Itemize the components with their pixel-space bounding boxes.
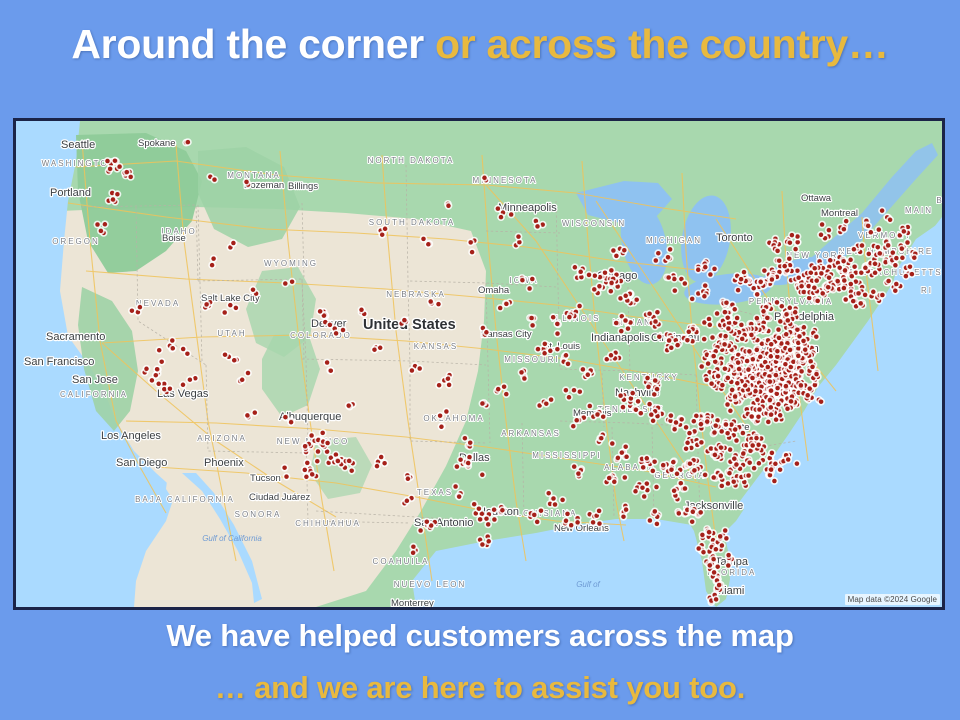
customer-marker[interactable]: [114, 190, 122, 198]
customer-marker[interactable]: [731, 426, 739, 434]
customer-marker[interactable]: [703, 376, 711, 384]
customer-marker[interactable]: [666, 246, 674, 254]
customer-marker[interactable]: [686, 429, 694, 437]
customer-marker[interactable]: [725, 325, 733, 333]
customer-marker[interactable]: [865, 250, 873, 258]
customer-marker[interactable]: [494, 205, 502, 213]
customer-marker[interactable]: [323, 359, 331, 367]
customer-marker[interactable]: [646, 517, 654, 525]
customer-marker[interactable]: [871, 269, 879, 277]
customer-marker[interactable]: [308, 432, 316, 440]
customer-marker[interactable]: [455, 493, 463, 501]
customer-marker[interactable]: [800, 337, 808, 345]
customer-marker[interactable]: [874, 243, 882, 251]
customer-marker[interactable]: [817, 398, 825, 406]
customer-marker[interactable]: [319, 429, 327, 437]
customer-marker[interactable]: [705, 528, 713, 536]
customer-marker[interactable]: [621, 474, 629, 482]
customer-marker[interactable]: [622, 292, 630, 300]
customer-marker[interactable]: [851, 263, 859, 271]
customer-marker[interactable]: [710, 569, 718, 577]
customer-marker[interactable]: [733, 379, 741, 387]
customer-marker[interactable]: [610, 247, 618, 255]
customer-marker[interactable]: [785, 255, 793, 263]
customer-marker[interactable]: [686, 460, 694, 468]
customer-marker[interactable]: [533, 518, 541, 526]
customer-marker[interactable]: [733, 314, 741, 322]
customer-marker[interactable]: [745, 366, 753, 374]
customer-marker[interactable]: [878, 207, 886, 215]
customer-marker[interactable]: [423, 518, 431, 526]
customer-marker[interactable]: [711, 429, 719, 437]
customer-marker[interactable]: [700, 548, 708, 556]
customer-marker[interactable]: [479, 400, 487, 408]
customer-marker[interactable]: [847, 256, 855, 264]
customer-marker[interactable]: [634, 398, 642, 406]
customer-marker[interactable]: [840, 225, 848, 233]
customer-marker[interactable]: [541, 349, 549, 357]
customer-marker[interactable]: [670, 487, 678, 495]
customer-marker[interactable]: [795, 274, 803, 282]
customer-marker[interactable]: [787, 398, 795, 406]
customer-marker[interactable]: [709, 334, 717, 342]
customer-marker[interactable]: [694, 266, 702, 274]
customer-marker[interactable]: [776, 318, 784, 326]
customer-marker[interactable]: [534, 345, 542, 353]
customer-marker[interactable]: [622, 443, 630, 451]
customer-marker[interactable]: [811, 264, 819, 272]
customer-marker[interactable]: [704, 360, 712, 368]
customer-marker[interactable]: [746, 459, 754, 467]
customer-marker[interactable]: [794, 352, 802, 360]
customer-marker[interactable]: [417, 527, 425, 535]
customer-marker[interactable]: [717, 472, 725, 480]
customer-marker[interactable]: [782, 382, 790, 390]
customer-marker[interactable]: [211, 176, 219, 184]
customer-marker[interactable]: [825, 226, 833, 234]
customer-marker[interactable]: [503, 300, 511, 308]
customer-marker[interactable]: [101, 220, 109, 228]
customer-marker[interactable]: [718, 542, 726, 550]
customer-marker[interactable]: [738, 335, 746, 343]
customer-marker[interactable]: [768, 276, 776, 284]
customer-marker[interactable]: [570, 386, 578, 394]
customer-marker[interactable]: [734, 286, 742, 294]
customer-marker[interactable]: [850, 245, 858, 253]
customer-marker[interactable]: [783, 311, 791, 319]
customer-marker[interactable]: [313, 457, 321, 465]
customer-marker[interactable]: [409, 549, 417, 557]
customer-marker[interactable]: [123, 168, 131, 176]
customer-marker[interactable]: [826, 256, 834, 264]
customer-marker[interactable]: [334, 457, 342, 465]
customer-marker[interactable]: [490, 506, 498, 514]
customer-marker[interactable]: [230, 239, 238, 247]
customer-marker[interactable]: [792, 245, 800, 253]
customer-marker[interactable]: [739, 450, 747, 458]
customer-marker[interactable]: [733, 461, 741, 469]
customer-marker[interactable]: [812, 333, 820, 341]
customer-marker[interactable]: [681, 280, 689, 288]
customer-marker[interactable]: [721, 341, 729, 349]
customer-marker[interactable]: [622, 317, 630, 325]
customer-marker[interactable]: [575, 470, 583, 478]
customer-marker[interactable]: [886, 216, 894, 224]
customer-marker[interactable]: [612, 319, 620, 327]
customer-marker[interactable]: [445, 202, 453, 210]
customer-marker[interactable]: [763, 314, 771, 322]
customer-marker[interactable]: [545, 489, 553, 497]
customer-marker[interactable]: [749, 442, 757, 450]
customer-marker[interactable]: [243, 178, 251, 186]
customer-marker[interactable]: [767, 411, 775, 419]
customer-marker[interactable]: [345, 402, 353, 410]
customer-marker[interactable]: [861, 291, 869, 299]
customer-marker[interactable]: [715, 581, 723, 589]
customer-marker[interactable]: [667, 344, 675, 352]
customer-marker[interactable]: [158, 358, 166, 366]
customer-marker[interactable]: [585, 271, 593, 279]
customer-marker[interactable]: [116, 163, 124, 171]
customer-marker[interactable]: [739, 429, 747, 437]
customer-marker[interactable]: [724, 429, 732, 437]
customer-marker[interactable]: [179, 381, 187, 389]
customer-marker[interactable]: [700, 335, 708, 343]
customer-marker[interactable]: [669, 458, 677, 466]
customer-marker[interactable]: [584, 371, 592, 379]
customer-marker[interactable]: [605, 474, 613, 482]
customer-marker[interactable]: [599, 413, 607, 421]
customer-marker[interactable]: [478, 471, 486, 479]
customer-marker[interactable]: [688, 518, 696, 526]
customer-marker[interactable]: [601, 269, 609, 277]
customer-marker[interactable]: [842, 217, 850, 225]
customer-marker[interactable]: [649, 467, 657, 475]
customer-marker[interactable]: [639, 484, 647, 492]
customer-marker[interactable]: [339, 326, 347, 334]
customer-marker[interactable]: [652, 257, 660, 265]
customer-marker[interactable]: [570, 463, 578, 471]
customer-marker[interactable]: [722, 332, 730, 340]
customer-marker[interactable]: [768, 449, 776, 457]
customer-marker[interactable]: [551, 501, 559, 509]
customer-marker[interactable]: [457, 456, 465, 464]
customer-marker[interactable]: [755, 413, 763, 421]
customer-marker[interactable]: [735, 365, 743, 373]
customer-marker[interactable]: [684, 336, 692, 344]
customer-marker[interactable]: [690, 417, 698, 425]
customer-marker[interactable]: [554, 330, 562, 338]
customer-marker[interactable]: [645, 383, 653, 391]
customer-marker[interactable]: [528, 275, 536, 283]
customer-marker[interactable]: [484, 521, 492, 529]
customer-marker[interactable]: [481, 174, 489, 182]
customer-marker[interactable]: [607, 287, 615, 295]
customer-marker[interactable]: [775, 334, 783, 342]
customer-marker[interactable]: [788, 231, 796, 239]
customer-marker[interactable]: [842, 296, 850, 304]
customer-marker[interactable]: [793, 460, 801, 468]
customer-marker[interactable]: [753, 434, 761, 442]
customer-marker[interactable]: [651, 508, 659, 516]
customer-marker[interactable]: [153, 365, 161, 373]
customer-marker[interactable]: [712, 422, 720, 430]
customer-marker[interactable]: [723, 535, 731, 543]
customer-marker[interactable]: [378, 231, 386, 239]
customer-marker[interactable]: [817, 231, 825, 239]
customer-marker[interactable]: [871, 260, 879, 268]
customer-marker[interactable]: [900, 228, 908, 236]
customer-marker[interactable]: [730, 478, 738, 486]
customer-marker[interactable]: [208, 261, 216, 269]
customer-marker[interactable]: [711, 451, 719, 459]
customer-marker[interactable]: [301, 466, 309, 474]
customer-marker[interactable]: [848, 272, 856, 280]
customer-marker[interactable]: [774, 347, 782, 355]
customer-marker[interactable]: [314, 448, 322, 456]
customer-marker[interactable]: [435, 381, 443, 389]
customer-marker[interactable]: [653, 385, 661, 393]
customer-marker[interactable]: [589, 519, 597, 527]
customer-marker[interactable]: [644, 374, 652, 382]
customer-marker[interactable]: [884, 242, 892, 250]
customer-marker[interactable]: [855, 290, 863, 298]
customer-marker[interactable]: [773, 299, 781, 307]
customer-marker[interactable]: [288, 278, 296, 286]
customer-marker[interactable]: [892, 261, 900, 269]
customer-marker[interactable]: [665, 337, 673, 345]
customer-marker[interactable]: [719, 381, 727, 389]
customer-marker[interactable]: [562, 351, 570, 359]
customer-marker[interactable]: [724, 401, 732, 409]
customer-marker[interactable]: [597, 434, 605, 442]
customer-marker[interactable]: [814, 297, 822, 305]
customer-marker[interactable]: [438, 423, 446, 431]
customer-marker[interactable]: [607, 351, 615, 359]
customer-marker[interactable]: [566, 313, 574, 321]
customer-marker[interactable]: [691, 467, 699, 475]
customer-marker[interactable]: [639, 464, 647, 472]
customer-marker[interactable]: [772, 371, 780, 379]
customer-marker[interactable]: [403, 497, 411, 505]
customer-marker[interactable]: [373, 462, 381, 470]
customer-marker[interactable]: [775, 400, 783, 408]
customer-marker[interactable]: [565, 393, 573, 401]
customer-marker[interactable]: [332, 330, 340, 338]
customer-marker[interactable]: [401, 316, 409, 324]
customer-marker[interactable]: [786, 346, 794, 354]
customer-marker[interactable]: [701, 263, 709, 271]
customer-marker[interactable]: [155, 346, 163, 354]
customer-marker[interactable]: [573, 416, 581, 424]
customer-marker[interactable]: [673, 470, 681, 478]
customer-marker[interactable]: [737, 275, 745, 283]
customer-marker[interactable]: [725, 551, 733, 559]
customer-marker[interactable]: [699, 531, 707, 539]
customer-marker[interactable]: [806, 385, 814, 393]
customer-marker[interactable]: [559, 496, 567, 504]
customer-marker[interactable]: [283, 473, 291, 481]
customer-marker[interactable]: [774, 247, 782, 255]
customer-marker[interactable]: [771, 477, 779, 485]
customer-marker[interactable]: [892, 280, 900, 288]
customer-marker[interactable]: [798, 282, 806, 290]
customer-marker[interactable]: [757, 278, 765, 286]
customer-marker[interactable]: [655, 333, 663, 341]
customer-marker[interactable]: [435, 300, 443, 308]
customer-marker[interactable]: [479, 541, 487, 549]
customer-marker[interactable]: [891, 287, 899, 295]
customer-marker[interactable]: [809, 363, 817, 371]
customer-marker[interactable]: [653, 520, 661, 528]
customer-marker[interactable]: [810, 284, 818, 292]
customer-marker[interactable]: [249, 286, 257, 294]
customer-marker[interactable]: [776, 466, 784, 474]
customer-marker[interactable]: [836, 264, 844, 272]
customer-marker[interactable]: [753, 314, 761, 322]
customer-marker[interactable]: [743, 357, 751, 365]
customer-marker[interactable]: [564, 360, 572, 368]
customer-marker[interactable]: [564, 510, 572, 518]
customer-marker[interactable]: [186, 376, 194, 384]
customer-marker[interactable]: [740, 268, 748, 276]
customer-marker[interactable]: [624, 325, 632, 333]
customer-marker[interactable]: [723, 299, 731, 307]
customer-marker[interactable]: [537, 507, 545, 515]
customer-marker[interactable]: [345, 457, 353, 465]
customer-marker[interactable]: [671, 425, 679, 433]
customer-marker[interactable]: [244, 369, 252, 377]
customer-marker[interactable]: [667, 412, 675, 420]
customer-marker[interactable]: [436, 412, 444, 420]
customer-marker[interactable]: [619, 403, 627, 411]
customer-marker[interactable]: [665, 274, 673, 282]
customer-marker[interactable]: [767, 340, 775, 348]
customer-marker[interactable]: [554, 345, 562, 353]
customer-marker[interactable]: [497, 213, 505, 221]
customer-marker[interactable]: [908, 270, 916, 278]
map-canvas[interactable]: United States WASHINGTONOREGONIDAHOMONTA…: [16, 121, 942, 607]
customer-marker[interactable]: [404, 475, 412, 483]
customer-marker[interactable]: [776, 411, 784, 419]
customer-marker[interactable]: [623, 453, 631, 461]
customer-marker[interactable]: [232, 304, 240, 312]
customer-marker[interactable]: [633, 296, 641, 304]
customer-marker[interactable]: [754, 396, 762, 404]
customer-marker[interactable]: [166, 385, 174, 393]
customer-marker[interactable]: [748, 413, 756, 421]
customer-marker[interactable]: [221, 309, 229, 317]
customer-marker[interactable]: [526, 285, 534, 293]
customer-marker[interactable]: [210, 255, 218, 263]
customer-marker[interactable]: [682, 445, 690, 453]
customer-marker[interactable]: [766, 378, 774, 386]
customer-marker[interactable]: [617, 327, 625, 335]
customer-marker[interactable]: [534, 223, 542, 231]
customer-marker[interactable]: [681, 485, 689, 493]
customer-marker[interactable]: [528, 314, 536, 322]
customer-marker[interactable]: [376, 344, 384, 352]
customer-marker[interactable]: [416, 365, 424, 373]
customer-marker[interactable]: [840, 284, 848, 292]
customer-marker[interactable]: [461, 434, 469, 442]
customer-marker[interactable]: [857, 300, 865, 308]
customer-marker[interactable]: [889, 249, 897, 257]
customer-marker[interactable]: [221, 351, 229, 359]
customer-marker[interactable]: [847, 280, 855, 288]
customer-marker[interactable]: [519, 276, 527, 284]
customer-marker[interactable]: [128, 307, 136, 315]
customer-marker[interactable]: [104, 157, 112, 165]
customer-marker[interactable]: [710, 352, 718, 360]
customer-marker[interactable]: [688, 295, 696, 303]
customer-marker[interactable]: [326, 321, 334, 329]
customer-marker[interactable]: [724, 374, 732, 382]
customer-marker[interactable]: [281, 464, 289, 472]
customer-marker[interactable]: [753, 346, 761, 354]
customer-marker[interactable]: [791, 308, 799, 316]
customer-marker[interactable]: [595, 507, 603, 515]
customer-marker[interactable]: [549, 313, 557, 321]
customer-marker[interactable]: [203, 301, 211, 309]
customer-marker[interactable]: [577, 268, 585, 276]
customer-marker[interactable]: [576, 302, 584, 310]
customer-marker[interactable]: [632, 487, 640, 495]
customer-marker[interactable]: [906, 263, 914, 271]
customer-marker[interactable]: [781, 262, 789, 270]
customer-marker[interactable]: [136, 303, 144, 311]
customer-marker[interactable]: [685, 328, 693, 336]
customer-marker[interactable]: [864, 222, 872, 230]
customer-marker[interactable]: [804, 391, 812, 399]
customer-marker[interactable]: [767, 466, 775, 474]
customer-marker[interactable]: [452, 483, 460, 491]
customer-marker[interactable]: [746, 348, 754, 356]
customer-marker[interactable]: [251, 409, 259, 417]
customer-marker[interactable]: [427, 298, 435, 306]
customer-marker[interactable]: [629, 389, 637, 397]
customer-marker[interactable]: [697, 509, 705, 517]
customer-marker[interactable]: [168, 337, 176, 345]
customer-marker[interactable]: [464, 459, 472, 467]
customer-marker[interactable]: [622, 506, 630, 514]
customer-marker[interactable]: [637, 409, 645, 417]
customer-marker[interactable]: [767, 404, 775, 412]
customer-marker[interactable]: [184, 138, 192, 146]
customer-marker[interactable]: [468, 248, 476, 256]
customer-marker[interactable]: [483, 328, 491, 336]
customer-marker[interactable]: [675, 510, 683, 518]
customer-marker[interactable]: [444, 375, 452, 383]
customer-marker[interactable]: [722, 421, 730, 429]
customer-marker[interactable]: [651, 458, 659, 466]
customer-marker[interactable]: [752, 387, 760, 395]
customer-marker[interactable]: [713, 310, 721, 318]
customer-marker[interactable]: [327, 367, 335, 375]
customer-map[interactable]: United States WASHINGTONOREGONIDAHOMONTA…: [13, 118, 945, 610]
customer-marker[interactable]: [710, 474, 718, 482]
customer-marker[interactable]: [904, 239, 912, 247]
customer-marker[interactable]: [453, 463, 461, 471]
customer-marker[interactable]: [745, 472, 753, 480]
customer-marker[interactable]: [646, 400, 654, 408]
customer-marker[interactable]: [541, 340, 549, 348]
customer-marker[interactable]: [858, 242, 866, 250]
customer-marker[interactable]: [849, 297, 857, 305]
customer-marker[interactable]: [672, 419, 680, 427]
customer-marker[interactable]: [651, 377, 659, 385]
customer-marker[interactable]: [562, 517, 570, 525]
